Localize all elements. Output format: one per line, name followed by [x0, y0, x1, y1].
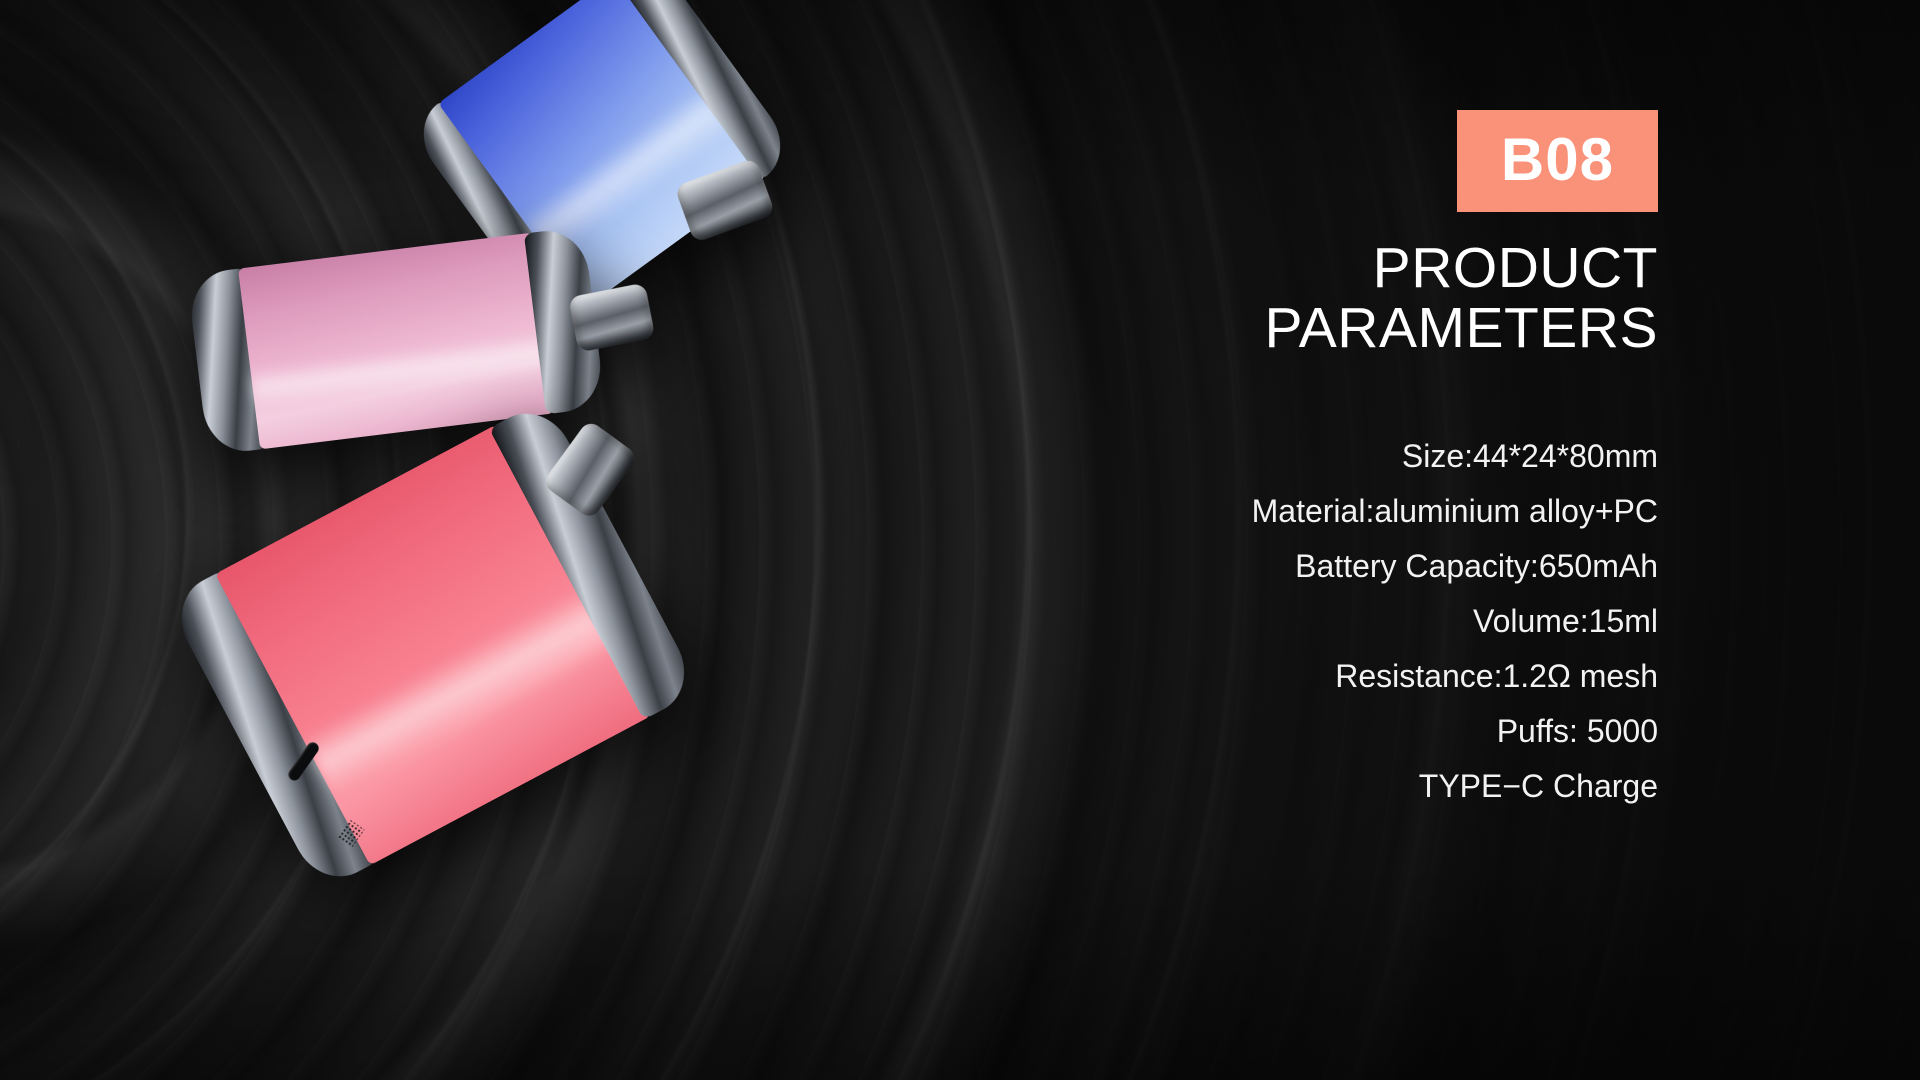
- spec-item-battery-capacity: Battery Capacity:650mAh: [1018, 539, 1658, 594]
- page-title: PRODUCT PARAMETERS: [1018, 238, 1658, 359]
- spec-item-resistance: Resistance:1.2Ω mesh: [1018, 649, 1658, 704]
- spec-item-material: Material:aluminium alloy+PC: [1018, 484, 1658, 539]
- device-panel-pink: [238, 233, 554, 450]
- product-banner: B08 PRODUCT PARAMETERS Size:44*24*80mm M…: [0, 0, 1920, 1080]
- spec-item-charge-type: TYPE−C Charge: [1018, 759, 1658, 814]
- product-info-panel: B08 PRODUCT PARAMETERS Size:44*24*80mm M…: [1018, 110, 1658, 814]
- page-title-line-1: PRODUCT: [1018, 238, 1658, 298]
- spec-item-volume: Volume:15ml: [1018, 594, 1658, 649]
- product-model-badge: B08: [1457, 110, 1658, 212]
- spec-item-puffs: Puffs: 5000: [1018, 704, 1658, 759]
- spec-list: Size:44*24*80mm Material:aluminium alloy…: [1018, 429, 1658, 814]
- page-title-line-2: PARAMETERS: [1018, 298, 1658, 358]
- spec-item-size: Size:44*24*80mm: [1018, 429, 1658, 484]
